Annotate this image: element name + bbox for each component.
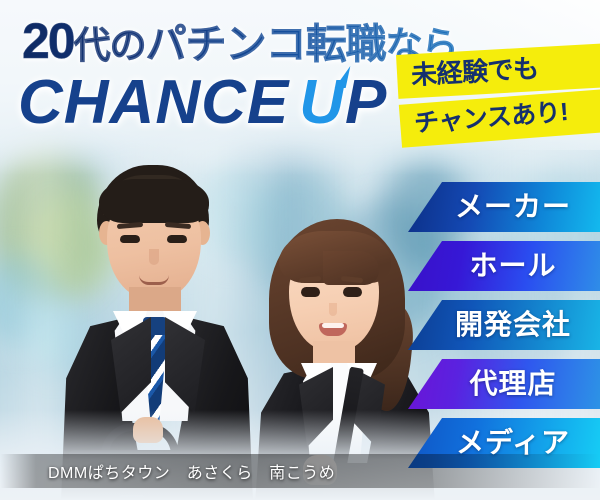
logo-word-chance: CHANCE — [18, 68, 289, 137]
hair-bangs — [279, 231, 391, 283]
tag-agency[interactable]: 代理店 — [408, 359, 600, 409]
nose — [149, 249, 159, 265]
hair-fringe — [99, 179, 209, 223]
headline-part-2: パチンコ転職 — [146, 21, 386, 67]
tag-label: 開発会社 — [455, 311, 571, 339]
headline-number: 20 — [22, 13, 74, 69]
tag-label: メディア — [456, 429, 570, 457]
headline-part-1: 代の — [74, 25, 146, 66]
banner-advertisement[interactable]: 20代のパチンコ転職なら CHANCEUP 未経験でも チャンスあり! メーカー… — [0, 0, 600, 500]
tag-hall[interactable]: ホール — [408, 241, 600, 291]
eye-right — [343, 287, 362, 297]
logo-letter-p: P — [345, 68, 387, 137]
eye-right — [167, 235, 187, 243]
eye-left — [301, 287, 320, 297]
caption-bar: DMMぱちタウン あさくら 南こうめ — [0, 454, 600, 488]
caption-text: DMMぱちタウン あさくら 南こうめ — [48, 459, 335, 483]
highlight-badges: 未経験でも チャンスあり! — [396, 43, 600, 148]
category-tag-list: メーカー ホール 開発会社 代理店 メディア — [408, 182, 600, 468]
mouth — [319, 323, 347, 336]
nose — [329, 303, 337, 316]
tag-maker[interactable]: メーカー — [408, 182, 600, 232]
logo-letter-u: U — [299, 72, 345, 134]
logo-chance-up: CHANCEUP — [18, 72, 387, 134]
tag-label: メーカー — [455, 193, 571, 221]
tag-label: ホール — [469, 252, 556, 280]
tag-label: 代理店 — [469, 370, 556, 398]
eye-left — [120, 235, 140, 243]
tag-development-company[interactable]: 開発会社 — [408, 300, 600, 350]
headline-text: 20代のパチンコ転職なら — [22, 16, 458, 66]
